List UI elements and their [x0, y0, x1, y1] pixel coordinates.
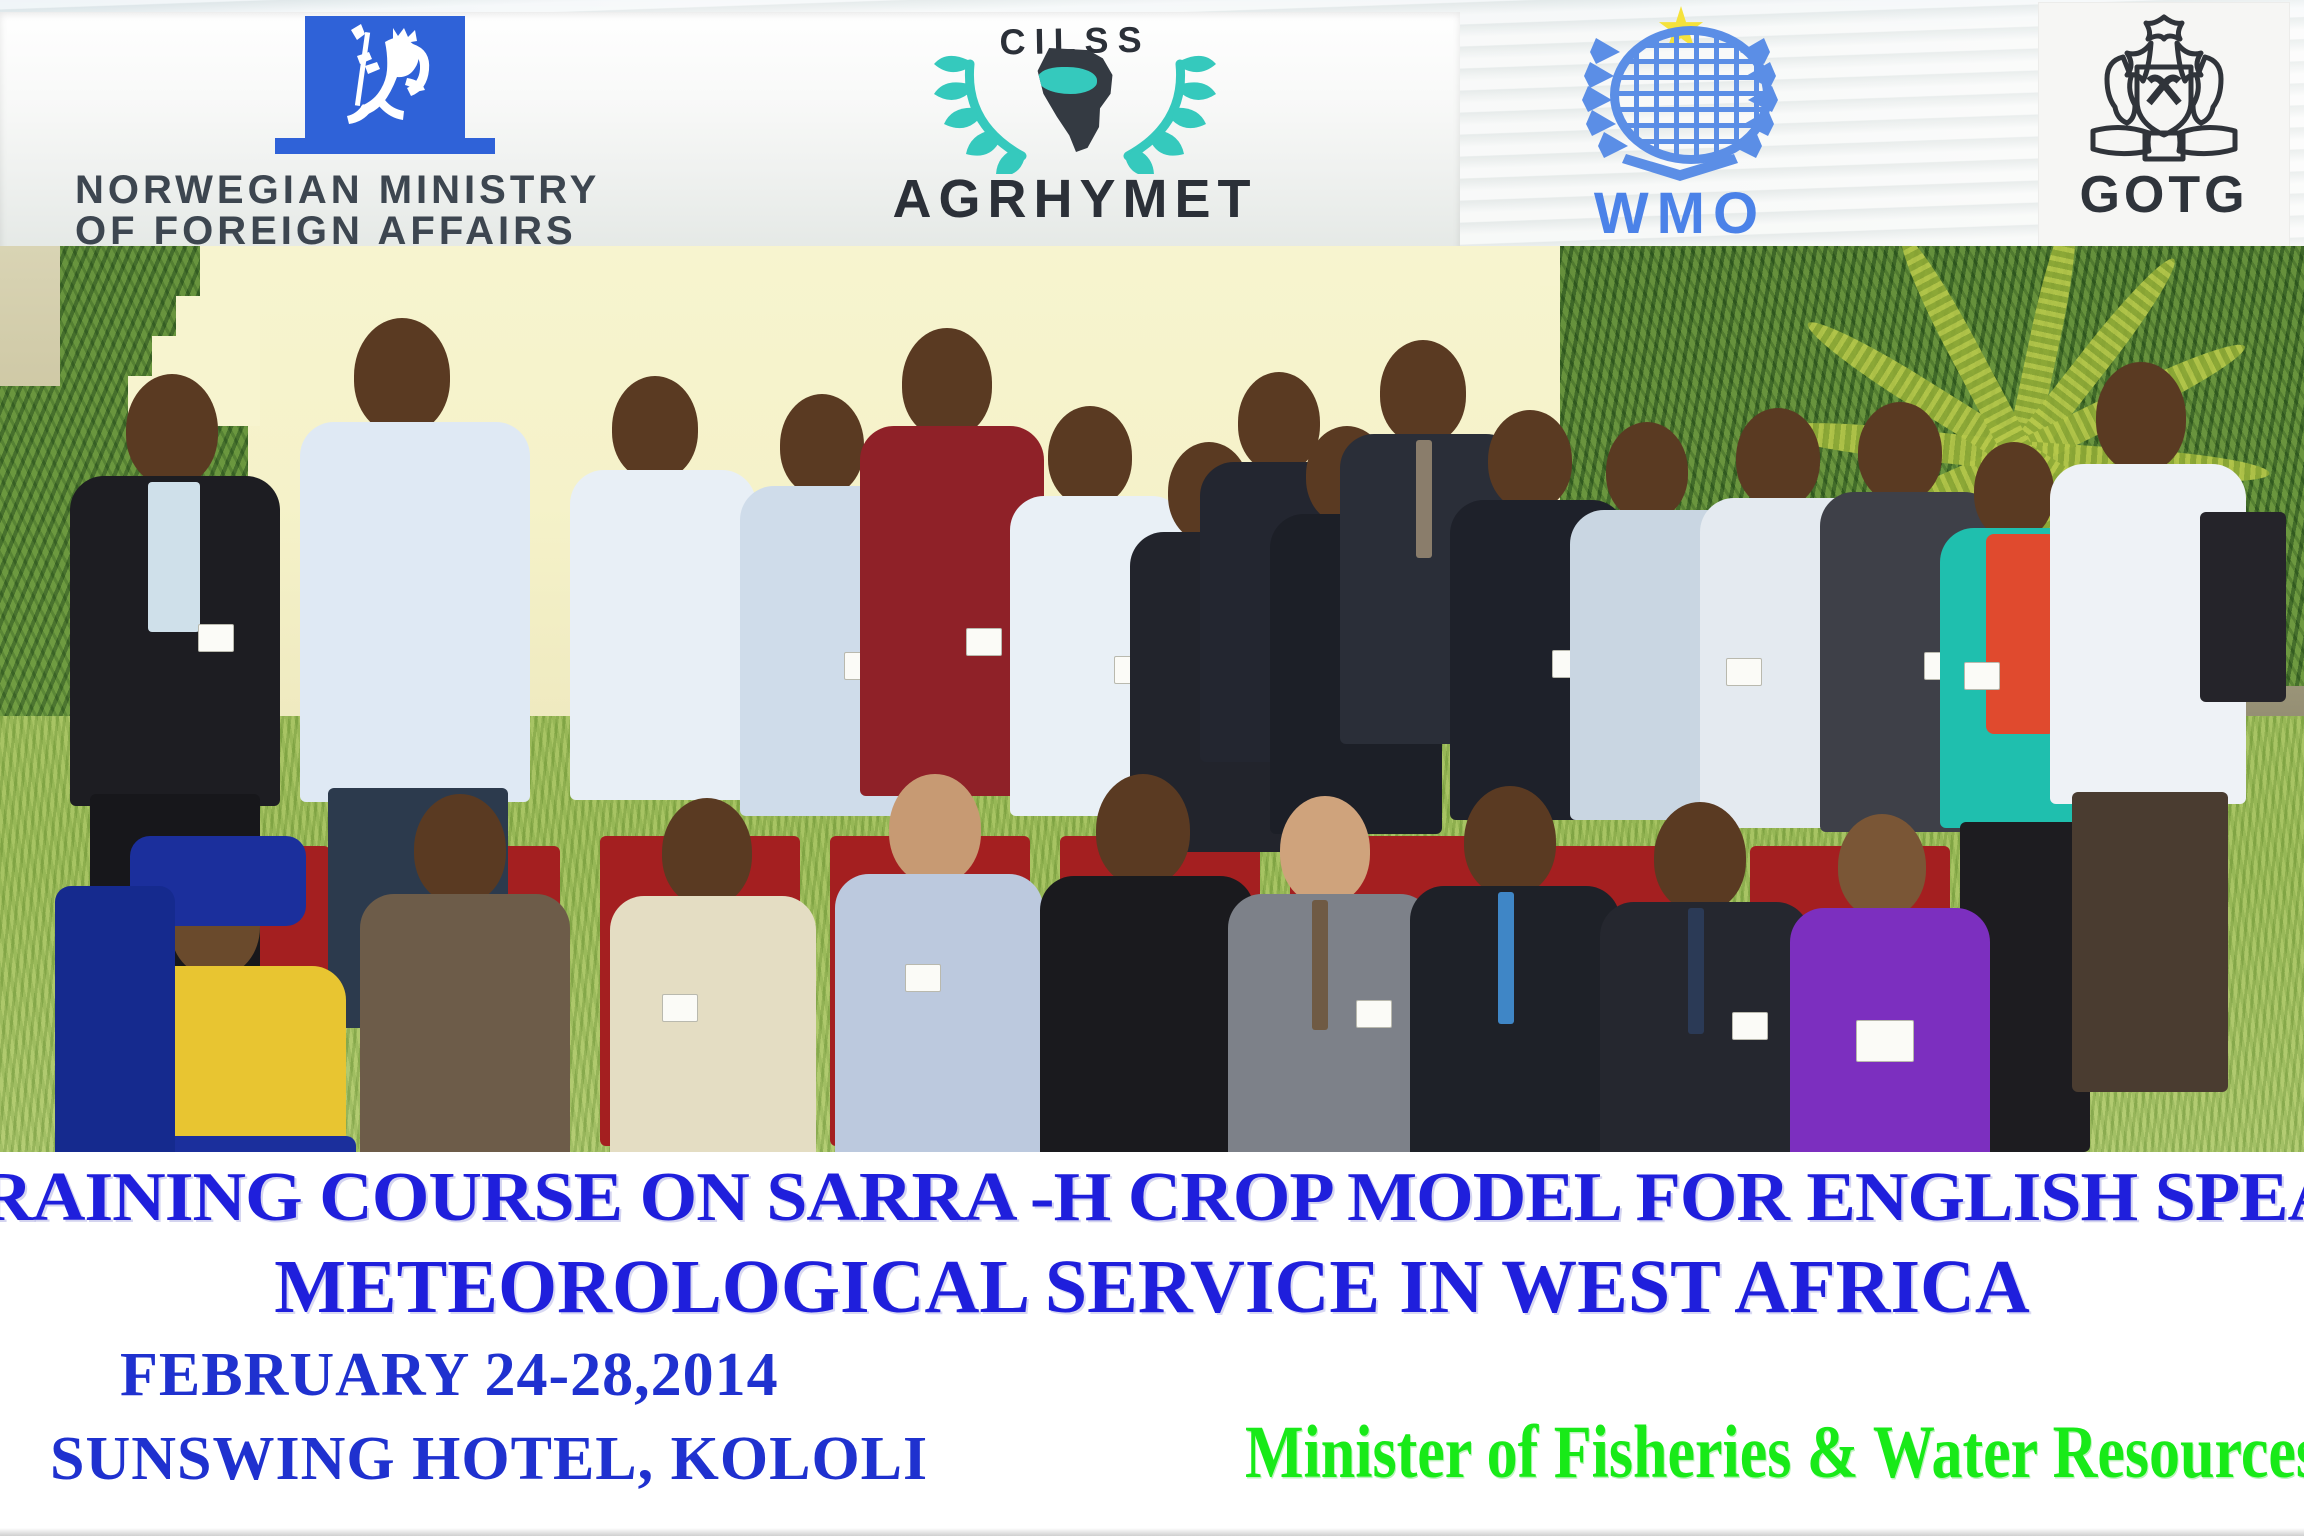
lion-rampant-icon [321, 22, 447, 134]
agrhymet-label: AGRHYMET [893, 168, 1258, 230]
norwegian-lion-crest-icon [275, 12, 495, 164]
caption-date: FEBRUARY 24-28,2014 [120, 1340, 779, 1411]
wmo-laurel-icon [1530, 4, 1830, 184]
caption-title-line1: TRAINING COURSE ON SARRA -H CROP MODEL F… [0, 1158, 2304, 1238]
wmo-label: WMO [1594, 180, 1766, 247]
cilss-africa-laurel-icon: CILSS [910, 4, 1240, 174]
gambia-coat-of-arms-icon [2079, 13, 2249, 163]
caption-venue: SUNSWING HOTEL, KOLOLI [50, 1424, 928, 1495]
group-photo [0, 246, 2304, 1152]
wmo-globe-laurel-star-icon [1530, 4, 1830, 184]
coat-of-arms-drawing [2079, 13, 2249, 163]
event-poster: NORWEGIAN MINISTRY OF FOREIGN AFFAIRS CI… [0, 0, 2304, 1536]
gotg-label: GOTG [2079, 165, 2248, 225]
poster-caption: TRAINING COURSE ON SARRA -H CROP MODEL F… [0, 1152, 2304, 1536]
sponsor-banner: NORWEGIAN MINISTRY OF FOREIGN AFFAIRS CI… [0, 0, 2304, 258]
logo-wmo: WMO [1470, 4, 1890, 254]
logo-norwegian-ministry: NORWEGIAN MINISTRY OF FOREIGN AFFAIRS [40, 12, 730, 252]
caption-minister: Minister of Fisheries & Water Resources [1245, 1410, 2304, 1497]
norwegian-ministry-label: NORWEGIAN MINISTRY OF FOREIGN AFFAIRS [75, 170, 695, 252]
logo-gotg: GOTG [2038, 2, 2290, 256]
logo-agrhymet: CILSS [840, 4, 1310, 254]
caption-title-line2: METEOROLOGICAL SERVICE IN WEST AFRICA [0, 1244, 2304, 1331]
